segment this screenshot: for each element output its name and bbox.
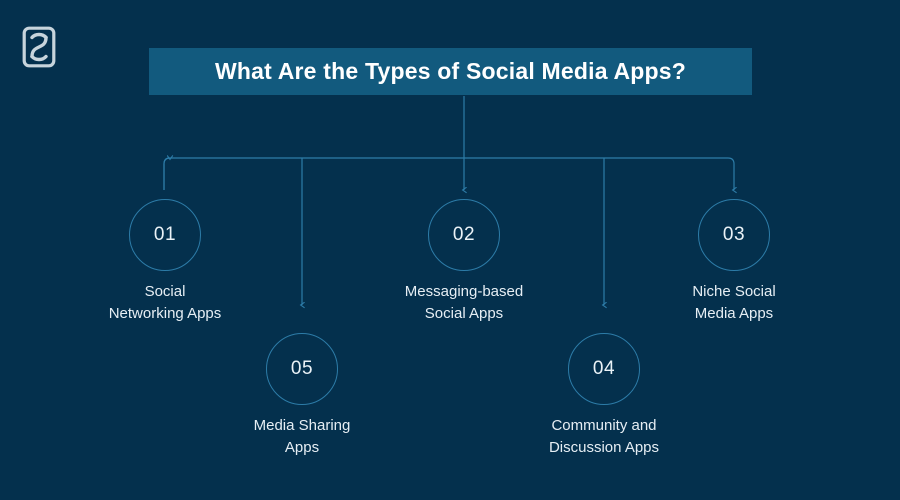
- infographic-canvas: What Are the Types of Social Media Apps?…: [0, 0, 900, 500]
- page-title-banner: What Are the Types of Social Media Apps?: [149, 48, 752, 95]
- node-circle-01[interactable]: 01: [129, 199, 201, 271]
- rounded-square-wave-logo-icon: [22, 26, 56, 68]
- tree-node-01[interactable]: 01 Social Networking Apps: [50, 199, 280, 325]
- node-circle-05[interactable]: 05: [266, 333, 338, 405]
- node-number-04: 04: [593, 358, 615, 380]
- brand-logo: [22, 26, 56, 68]
- tree-node-04[interactable]: 04 Community and Discussion Apps: [489, 333, 719, 459]
- tree-node-05[interactable]: 05 Media Sharing Apps: [187, 333, 417, 459]
- node-label-03: Niche Social Media Apps: [692, 281, 775, 325]
- node-number-02: 02: [453, 224, 475, 246]
- node-circle-03[interactable]: 03: [698, 199, 770, 271]
- tree-node-02[interactable]: 02 Messaging-based Social Apps: [349, 199, 579, 325]
- node-label-02: Messaging-based Social Apps: [405, 281, 523, 325]
- node-label-01: Social Networking Apps: [109, 281, 222, 325]
- connector-horizontal-bus: [164, 158, 734, 190]
- node-number-03: 03: [723, 224, 745, 246]
- node-circle-02[interactable]: 02: [428, 199, 500, 271]
- node-number-05: 05: [291, 358, 313, 380]
- node-circle-04[interactable]: 04: [568, 333, 640, 405]
- tree-node-03[interactable]: 03 Niche Social Media Apps: [619, 199, 849, 325]
- node-label-04: Community and Discussion Apps: [549, 415, 659, 459]
- page-title: What Are the Types of Social Media Apps?: [215, 58, 686, 85]
- node-number-01: 01: [154, 224, 176, 246]
- node-label-05: Media Sharing Apps: [254, 415, 351, 459]
- connector-branch-01-corner: [164, 158, 170, 190]
